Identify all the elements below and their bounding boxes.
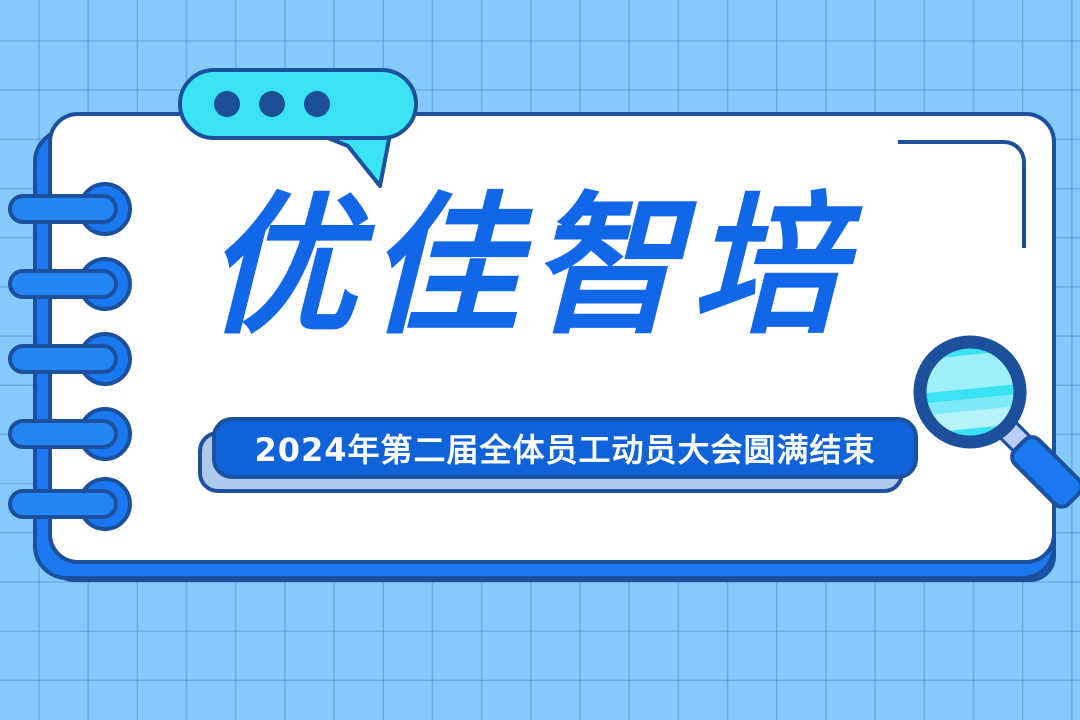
spiral-ring-bar [8, 489, 118, 519]
subtitle-banner: 2024年第二届全体员工动员大会圆满结束 [198, 417, 928, 497]
spiral-ring-bar [8, 269, 118, 299]
subtitle-text: 2024年第二届全体员工动员大会圆满结束 [254, 425, 875, 471]
spiral-ring-bar [8, 344, 118, 374]
bubble-dot [259, 91, 285, 117]
bubble-dot [214, 91, 240, 117]
poster-canvas: 优佳智培 2024年第二届全体员工动员大会圆满结束 [0, 0, 1080, 720]
page-title: 优佳智培 [205, 182, 965, 352]
subtitle-banner-body: 2024年第二届全体员工动员大会圆满结束 [212, 417, 918, 479]
magnifier-handle [998, 420, 1080, 510]
spiral-ring-bar [8, 419, 118, 449]
bubble-dot [304, 91, 330, 117]
spiral-ring-bar [8, 194, 118, 224]
magnifying-glass-icon [908, 330, 1080, 510]
speech-bubble-dots-icon [214, 91, 330, 117]
speech-bubble [178, 68, 438, 178]
spiral-binding [0, 0, 180, 720]
